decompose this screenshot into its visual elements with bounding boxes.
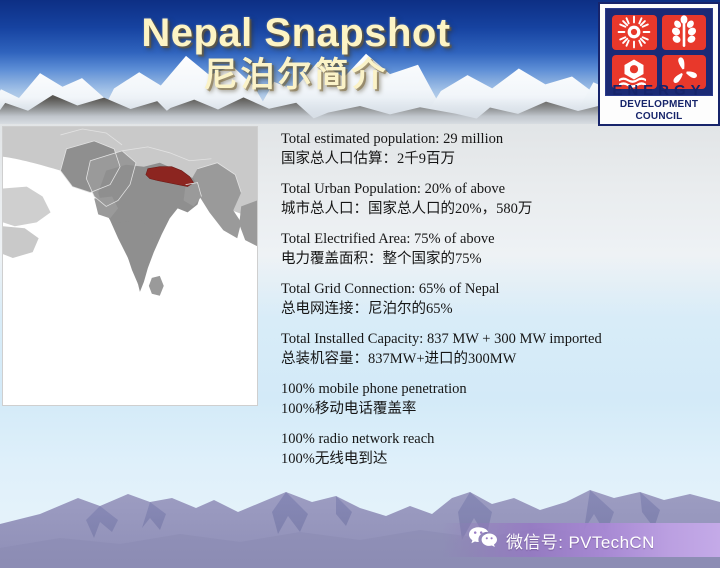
fact-text-zh: 电力覆盖面积：整个国家的75% [281, 249, 701, 269]
fact-text-zh: 总装机容量：837MW+进口的300MW [281, 349, 701, 369]
page-title-english: Nepal Snapshot [0, 12, 592, 54]
fact-text-en: Total estimated population: 29 million [281, 130, 701, 149]
wechat-icon [468, 526, 498, 555]
fact-text-zh: 总电网连接：尼泊尔的65% [281, 299, 701, 319]
fact-item: Total estimated population: 29 million 国… [281, 130, 701, 169]
fact-text-zh: 城市总人口：国家总人口的20%，580万 [281, 199, 701, 219]
fact-text-zh: 国家总人口估算：2千9百万 [281, 149, 701, 169]
fact-text-zh: 100%无线电到达 [281, 449, 701, 469]
fact-text-en: 100% radio network reach [281, 430, 701, 449]
slide-root: Nepal Snapshot 尼泊尔简介 [0, 0, 720, 568]
sun-icon [612, 15, 657, 50]
fact-text-en: Total Grid Connection: 65% of Nepal [281, 280, 701, 299]
logo-line-energy: ENERGY [600, 82, 718, 99]
fact-item: 100% radio network reach 100%无线电到达 [281, 430, 701, 469]
page-title-chinese: 尼泊尔简介 [0, 57, 592, 94]
fact-text-zh: 100%移动电话覆盖率 [281, 399, 701, 419]
fact-item: Total Electrified Area: 75% of above 电力覆… [281, 230, 701, 269]
wechat-watermark: 微信号: PVTechCN [442, 523, 720, 557]
fact-text-en: Total Electrified Area: 75% of above [281, 230, 701, 249]
logo-caption: ENERGY DEVELOPMENT COUNCIL [600, 82, 718, 123]
fact-item: 100% mobile phone penetration 100%移动电话覆盖… [281, 380, 701, 419]
plant-icon [662, 15, 707, 50]
fact-text-en: 100% mobile phone penetration [281, 380, 701, 399]
fact-item: Total Grid Connection: 65% of Nepal 总电网连… [281, 280, 701, 319]
facts-list: Total estimated population: 29 million 国… [281, 130, 701, 480]
logo-line-development-council: DEVELOPMENT COUNCIL [600, 99, 718, 123]
watermark-text: 微信号: PVTechCN [506, 528, 655, 553]
fact-text-en: Total Urban Population: 20% of above [281, 180, 701, 199]
energy-development-council-logo: ENERGY DEVELOPMENT COUNCIL [598, 2, 720, 126]
fact-item: Total Urban Population: 20% of above 城市总… [281, 180, 701, 219]
fact-item: Total Installed Capacity: 837 MW + 300 M… [281, 330, 701, 369]
south-asia-map [2, 126, 258, 406]
title-block: Nepal Snapshot 尼泊尔简介 [0, 12, 592, 94]
fact-text-en: Total Installed Capacity: 837 MW + 300 M… [281, 330, 701, 349]
